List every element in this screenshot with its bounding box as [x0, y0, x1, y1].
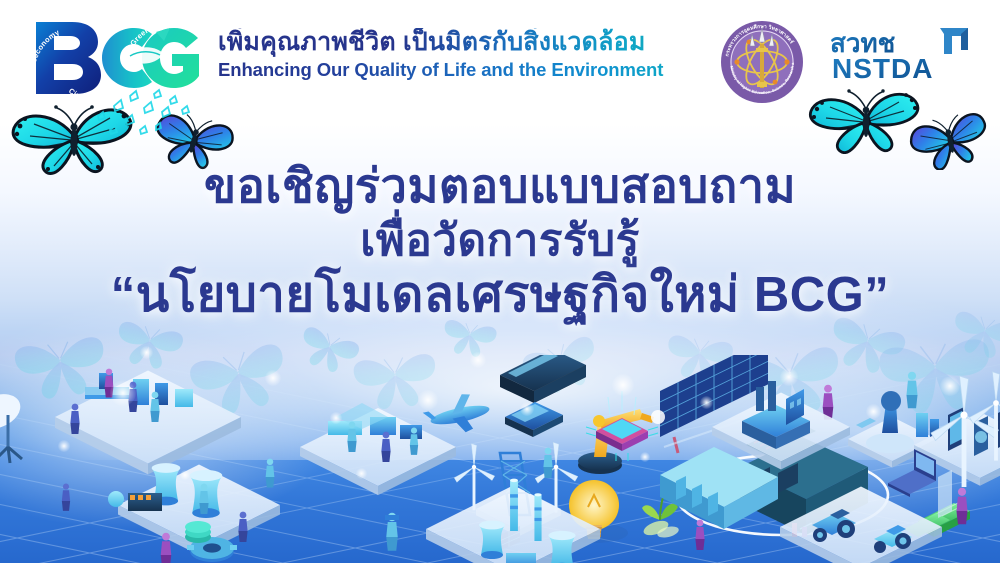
person-figure — [906, 372, 917, 408]
isometric-scene — [0, 355, 1000, 563]
headline-line-3: “นโยบายโมเดลเศรษฐกิจใหม่ BCG” — [0, 268, 1000, 324]
airplane — [421, 389, 493, 440]
banner-canvas: ขอเชิญร่วมตอบแบบสอบถาม เพื่อวัดการรับรู้… — [0, 0, 1000, 563]
nstda-logo: สวทช NSTDA — [818, 24, 988, 86]
headline-line-1: ขอเชิญร่วมตอบแบบสอบถาม — [0, 160, 1000, 213]
disc-stack — [185, 521, 211, 543]
mhesi-seal: กระทรวงการอุดมศึกษา วิทยาศาสตร์ Ministry… — [716, 16, 808, 108]
header-bar: Bioeconomy Circular economy Green econom… — [0, 0, 1000, 110]
tagline-english: Enhancing Our Quality of Life and the En… — [218, 59, 688, 82]
person-figure — [266, 459, 275, 488]
nstda-swoosh-icon — [940, 28, 968, 54]
nstda-latin-text: NSTDA — [832, 53, 933, 84]
person-figure — [543, 448, 552, 478]
person-figure — [62, 484, 70, 511]
car — [505, 402, 563, 437]
bcg-letter-b — [36, 22, 101, 94]
person-figure — [161, 533, 172, 563]
headline-line-2: เพื่อวัดการรับรู้ — [0, 215, 1000, 266]
tagline-thai: เพิ่มคุณภาพชีวิต เป็นมิตรกับสิ่งแวดล้อม — [218, 28, 688, 58]
satellite-dish — [0, 388, 26, 463]
header-tagline: เพิ่มคุณภาพชีวิต เป็นมิตรกับสิ่งแวดล้อม … — [218, 28, 688, 81]
vr-user — [385, 513, 399, 551]
bcg-logo: Bioeconomy Circular economy Green econom… — [28, 14, 210, 98]
headline-block: ขอเชิญร่วมตอบแบบสอบถาม เพื่อวัดการรับรู้… — [0, 160, 1000, 324]
bus — [500, 355, 586, 403]
automation-platform — [55, 369, 241, 475]
